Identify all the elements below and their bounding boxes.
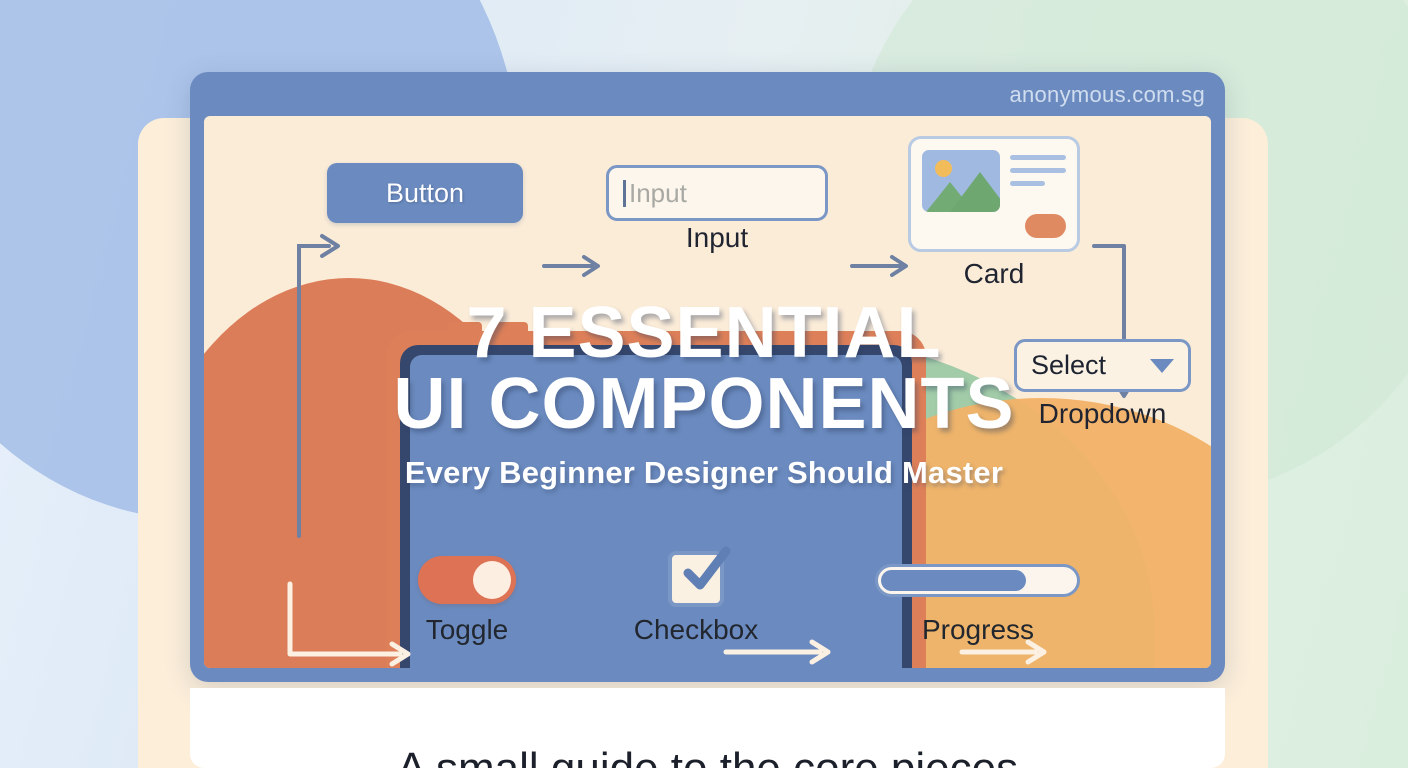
- card-caption: Card: [908, 258, 1080, 290]
- select-value: Select: [1031, 350, 1106, 381]
- toggle-component[interactable]: [418, 556, 516, 604]
- card-text-line: [1010, 181, 1045, 186]
- bottom-clipped-text: A small guide to the core pieces: [190, 744, 1225, 768]
- input-placeholder: Input: [629, 178, 687, 209]
- select-component[interactable]: Select: [1014, 339, 1191, 392]
- toggle-caption: Toggle: [398, 614, 536, 646]
- input-component[interactable]: Input: [606, 165, 828, 221]
- watermark-label: anonymous.com.sg: [1009, 82, 1205, 108]
- chevron-down-icon: [1150, 359, 1174, 373]
- panel-titlebar: anonymous.com.sg: [190, 72, 1225, 118]
- card-text-line: [1010, 168, 1066, 173]
- check-icon: [680, 543, 734, 597]
- text-caret: [623, 180, 626, 207]
- button-component[interactable]: Button: [327, 163, 523, 223]
- card-component[interactable]: [908, 136, 1080, 252]
- input-caption: Input: [606, 222, 828, 254]
- mountain-shape-b: [950, 172, 1000, 212]
- checkbox-component[interactable]: [668, 551, 724, 607]
- progress-component[interactable]: [875, 564, 1080, 597]
- button-label: Button: [386, 178, 464, 209]
- progress-fill: [881, 570, 1026, 591]
- bottom-sheet: A small guide to the core pieces: [190, 688, 1225, 768]
- device-tab-right: [494, 322, 528, 334]
- card-image-placeholder: [922, 150, 1000, 212]
- progress-caption: Progress: [905, 614, 1051, 646]
- card-cta-button[interactable]: [1025, 214, 1066, 238]
- checkbox-caption: Checkbox: [626, 614, 766, 646]
- device-tab-left: [448, 322, 482, 334]
- card-text-block: [1010, 150, 1066, 238]
- card-text-line: [1010, 155, 1066, 160]
- toggle-knob: [473, 561, 511, 599]
- select-caption: Dropdown: [1014, 398, 1191, 430]
